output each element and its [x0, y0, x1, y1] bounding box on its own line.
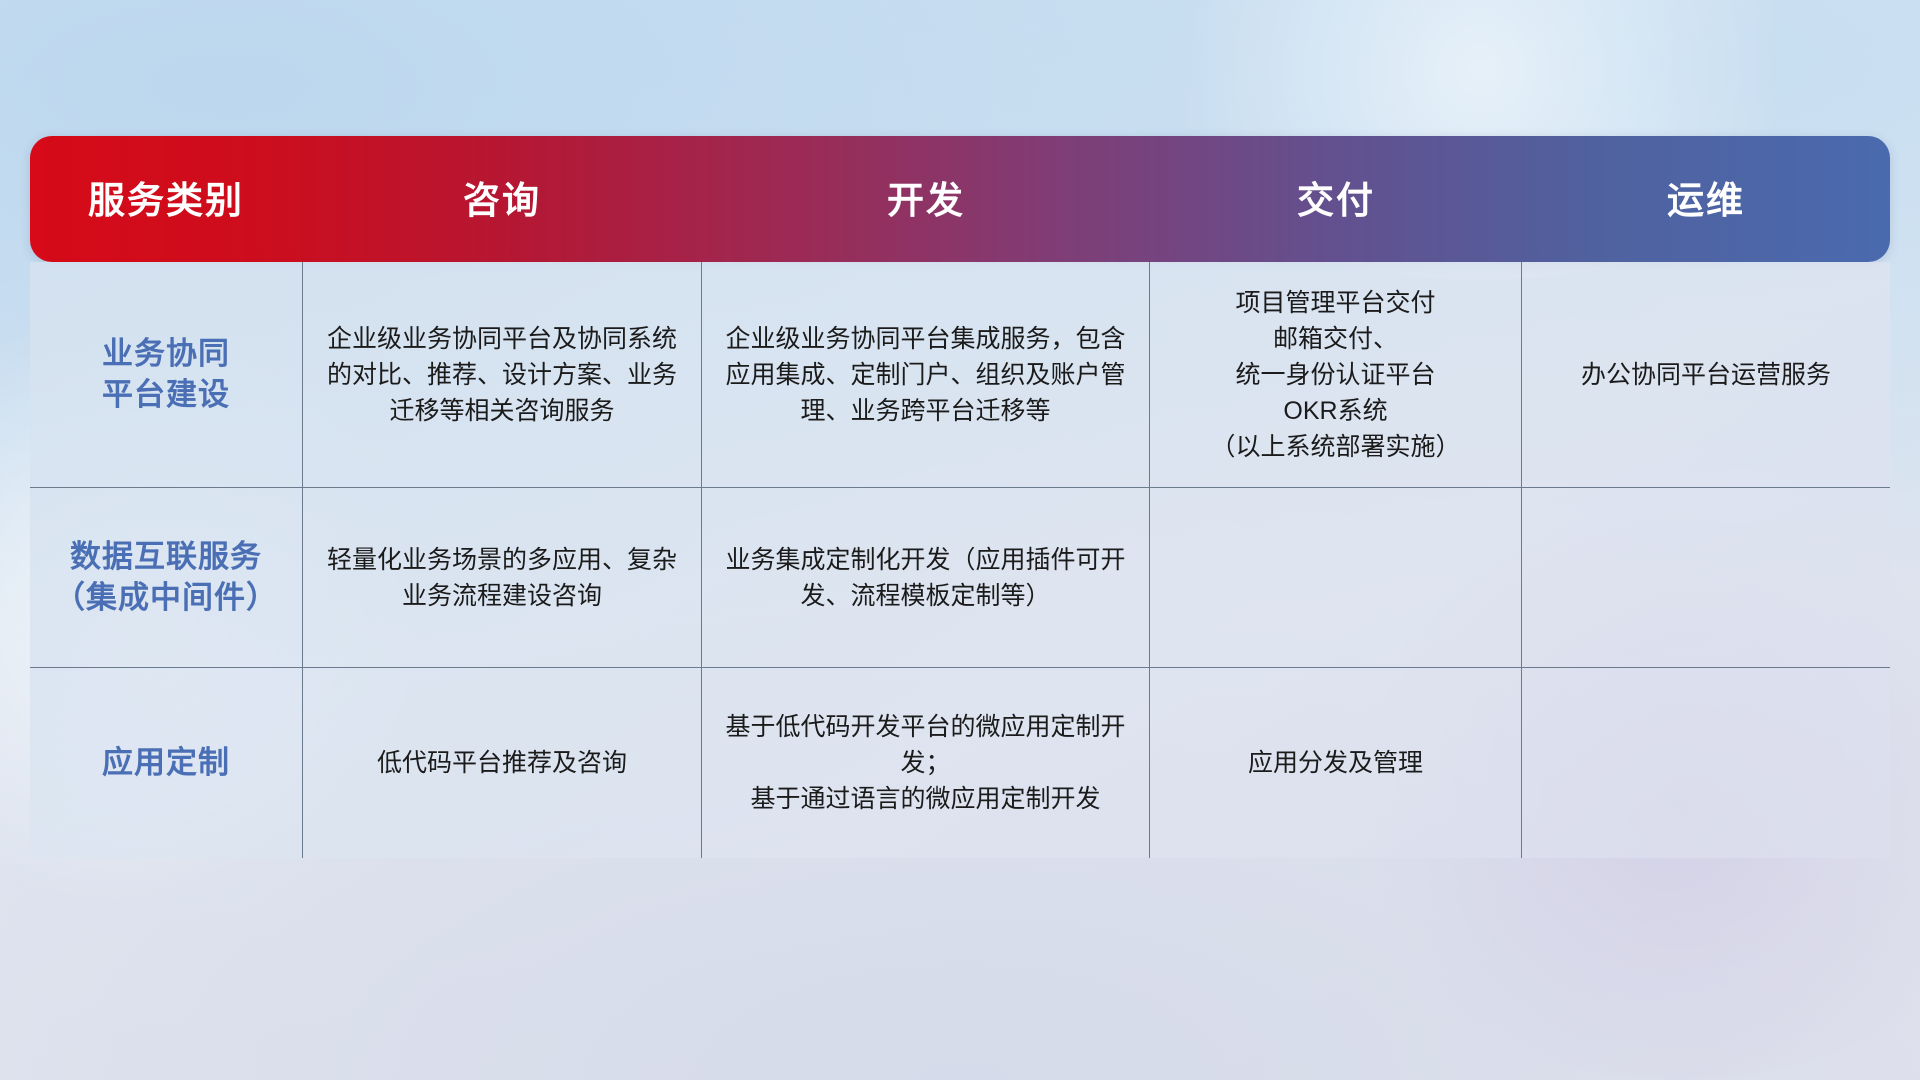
row-development-cell: 基于低代码开发平台的微应用定制开发；基于通过语言的微应用定制开发 [702, 668, 1150, 858]
row-consulting-cell: 低代码平台推荐及咨询 [302, 668, 702, 858]
row-delivery-text: 应用分发及管理 [1248, 745, 1423, 781]
row-category-label: 数据互联服务（集成中间件） [54, 537, 278, 619]
row-operations-text: 办公协同平台运营服务 [1581, 357, 1831, 393]
row-category-label: 应用定制 [102, 743, 230, 784]
column-header-development-label: 开发 [887, 170, 965, 224]
row-development-text: 企业级业务协同平台集成服务，包含应用集成、定制门户、组织及账户管理、业务跨平台迁… [720, 321, 1131, 429]
table-body: 业务协同平台建设 企业级业务协同平台及协同系统的对比、推荐、设计方案、业务迁移等… [30, 262, 1890, 858]
column-header-delivery: 交付 [1150, 136, 1522, 262]
column-header-category-label: 服务类别 [88, 170, 244, 224]
row-operations-cell [1522, 668, 1890, 858]
row-delivery-cell: 应用分发及管理 [1150, 668, 1522, 858]
column-header-category: 服务类别 [30, 136, 302, 262]
row-category-cell: 业务协同平台建设 [30, 262, 302, 487]
table-header-row: 服务类别 咨询 开发 交付 运维 [30, 136, 1890, 262]
column-header-operations-label: 运维 [1667, 170, 1745, 224]
row-consulting-text: 低代码平台推荐及咨询 [377, 745, 627, 781]
row-development-text: 基于低代码开发平台的微应用定制开发；基于通过语言的微应用定制开发 [720, 709, 1131, 817]
row-development-cell: 业务集成定制化开发（应用插件可开发、流程模板定制等） [702, 488, 1150, 667]
column-header-consulting-label: 咨询 [463, 170, 541, 224]
service-matrix-table: 服务类别 咨询 开发 交付 运维 业务协同平台建设 企业级业务协同平台及协同系统… [30, 136, 1890, 858]
row-operations-cell: 办公协同平台运营服务 [1522, 262, 1890, 487]
row-delivery-cell [1150, 488, 1522, 667]
row-category-cell: 数据互联服务（集成中间件） [30, 488, 302, 667]
row-consulting-text: 轻量化业务场景的多应用、复杂业务流程建设咨询 [321, 542, 683, 614]
row-development-cell: 企业级业务协同平台集成服务，包含应用集成、定制门户、组织及账户管理、业务跨平台迁… [702, 262, 1150, 487]
row-category-cell: 应用定制 [30, 668, 302, 858]
column-header-delivery-label: 交付 [1297, 170, 1375, 224]
row-category-label: 业务协同平台建设 [102, 334, 230, 416]
row-delivery-text: 项目管理平台交付邮箱交付、统一身份认证平台OKR系统（以上系统部署实施） [1210, 285, 1460, 465]
table-row: 业务协同平台建设 企业级业务协同平台及协同系统的对比、推荐、设计方案、业务迁移等… [30, 262, 1890, 488]
column-header-operations: 运维 [1522, 136, 1890, 262]
row-operations-cell [1522, 488, 1890, 667]
row-development-text: 业务集成定制化开发（应用插件可开发、流程模板定制等） [720, 542, 1131, 614]
table-row: 应用定制 低代码平台推荐及咨询 基于低代码开发平台的微应用定制开发；基于通过语言… [30, 668, 1890, 858]
column-header-development: 开发 [702, 136, 1150, 262]
row-consulting-text: 企业级业务协同平台及协同系统的对比、推荐、设计方案、业务迁移等相关咨询服务 [321, 321, 683, 429]
table-row: 数据互联服务（集成中间件） 轻量化业务场景的多应用、复杂业务流程建设咨询 业务集… [30, 488, 1890, 668]
row-delivery-cell: 项目管理平台交付邮箱交付、统一身份认证平台OKR系统（以上系统部署实施） [1150, 262, 1522, 487]
column-header-consulting: 咨询 [302, 136, 702, 262]
row-consulting-cell: 企业级业务协同平台及协同系统的对比、推荐、设计方案、业务迁移等相关咨询服务 [302, 262, 702, 487]
row-consulting-cell: 轻量化业务场景的多应用、复杂业务流程建设咨询 [302, 488, 702, 667]
